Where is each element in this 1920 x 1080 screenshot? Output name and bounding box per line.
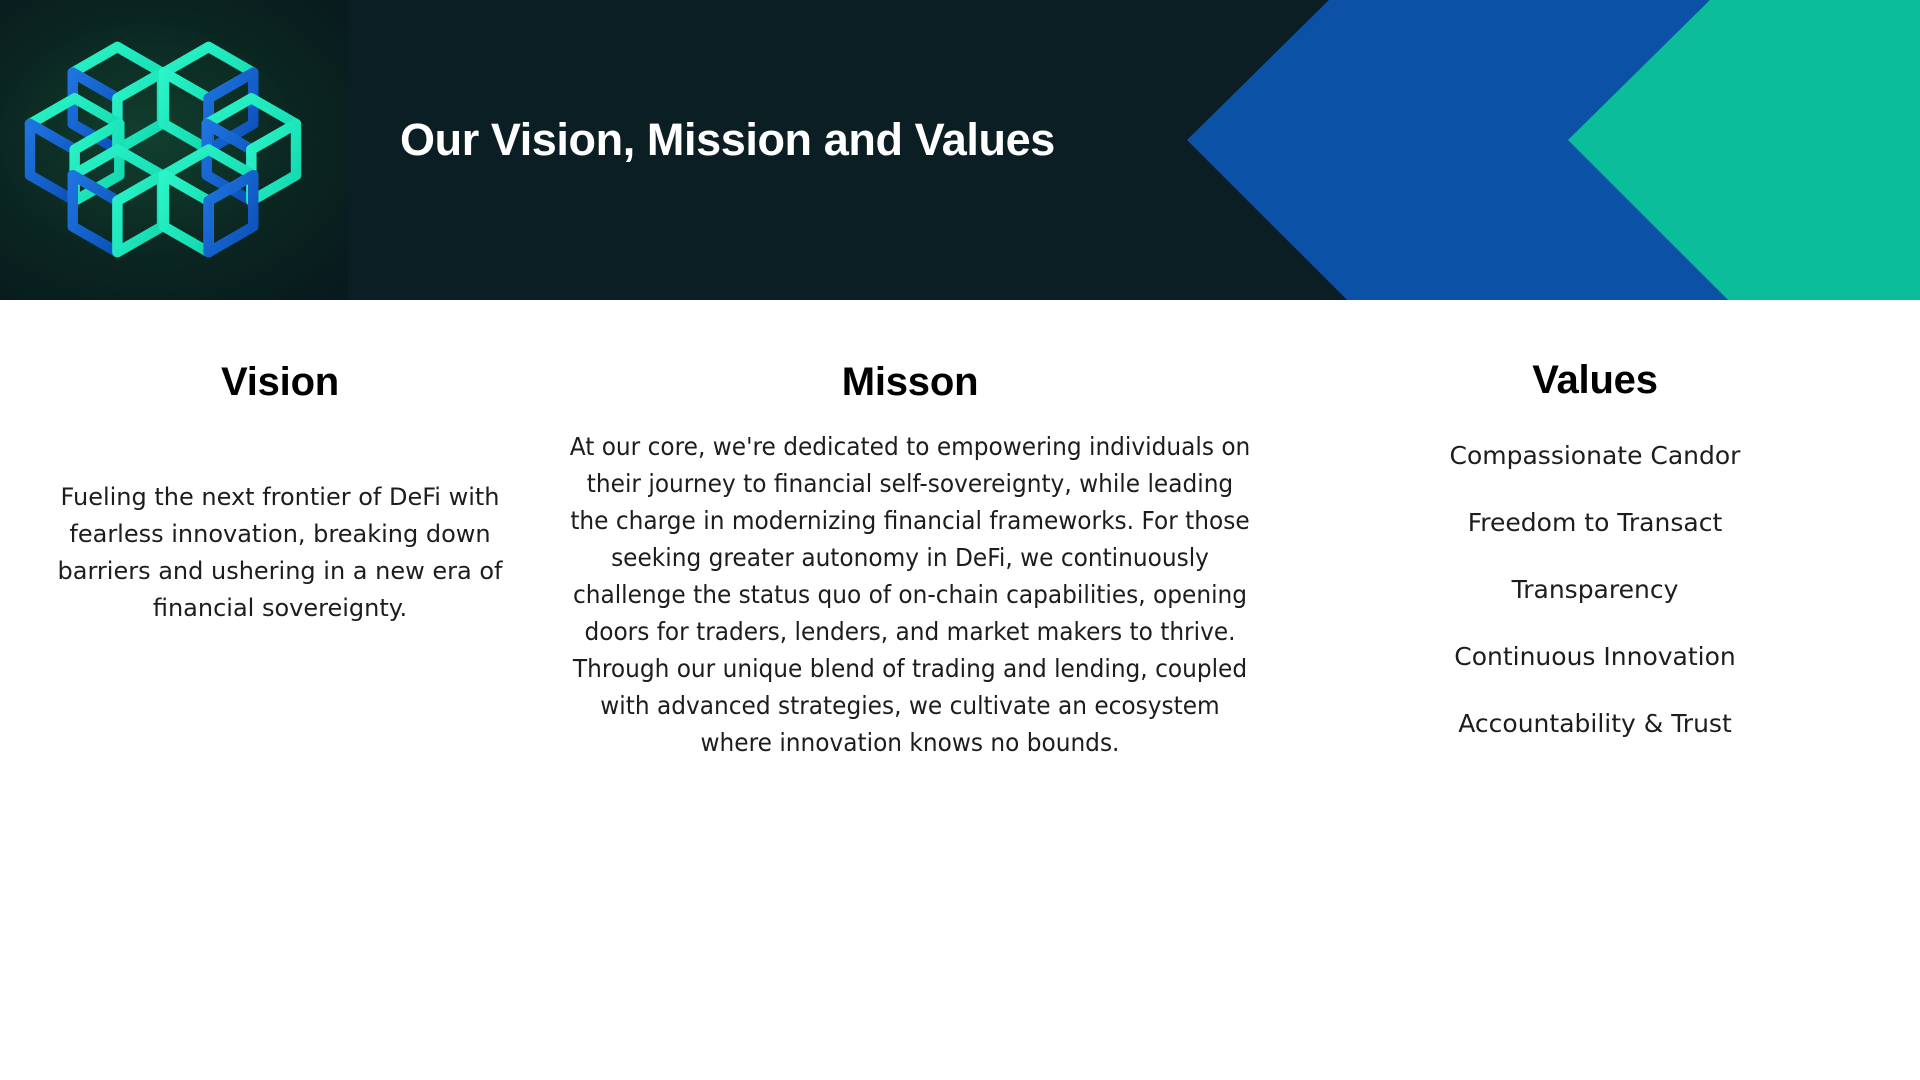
column-vision: Vision Fueling the next frontier of DeFi… [30, 300, 530, 627]
main-content: Vision Fueling the next frontier of DeFi… [0, 300, 1920, 1080]
values-list: Compassionate Candor Freedom to Transact… [1350, 441, 1840, 739]
page-title: Our Vision, Mission and Values [400, 109, 1160, 171]
vision-heading: Vision [30, 360, 530, 405]
list-item: Freedom to Transact [1350, 508, 1840, 538]
mission-heading: Misson [530, 360, 1290, 405]
column-values: Values Compassionate Candor Freedom to T… [1350, 300, 1840, 776]
list-item: Transparency [1350, 575, 1840, 605]
logo-tile [0, 0, 348, 300]
mission-body: At our core, we're dedicated to empoweri… [557, 428, 1264, 761]
list-item: Compassionate Candor [1350, 441, 1840, 471]
column-mission: Misson At our core, we're dedicated to e… [530, 300, 1290, 761]
list-item: Continuous Innovation [1350, 642, 1840, 672]
vision-body: Fueling the next frontier of DeFi with f… [30, 479, 530, 627]
page-header: Our Vision, Mission and Values [0, 0, 1920, 300]
isometric-cube-cluster-logo-icon [18, 8, 308, 293]
list-item: Accountability & Trust [1350, 709, 1840, 739]
values-heading: Values [1350, 358, 1840, 403]
